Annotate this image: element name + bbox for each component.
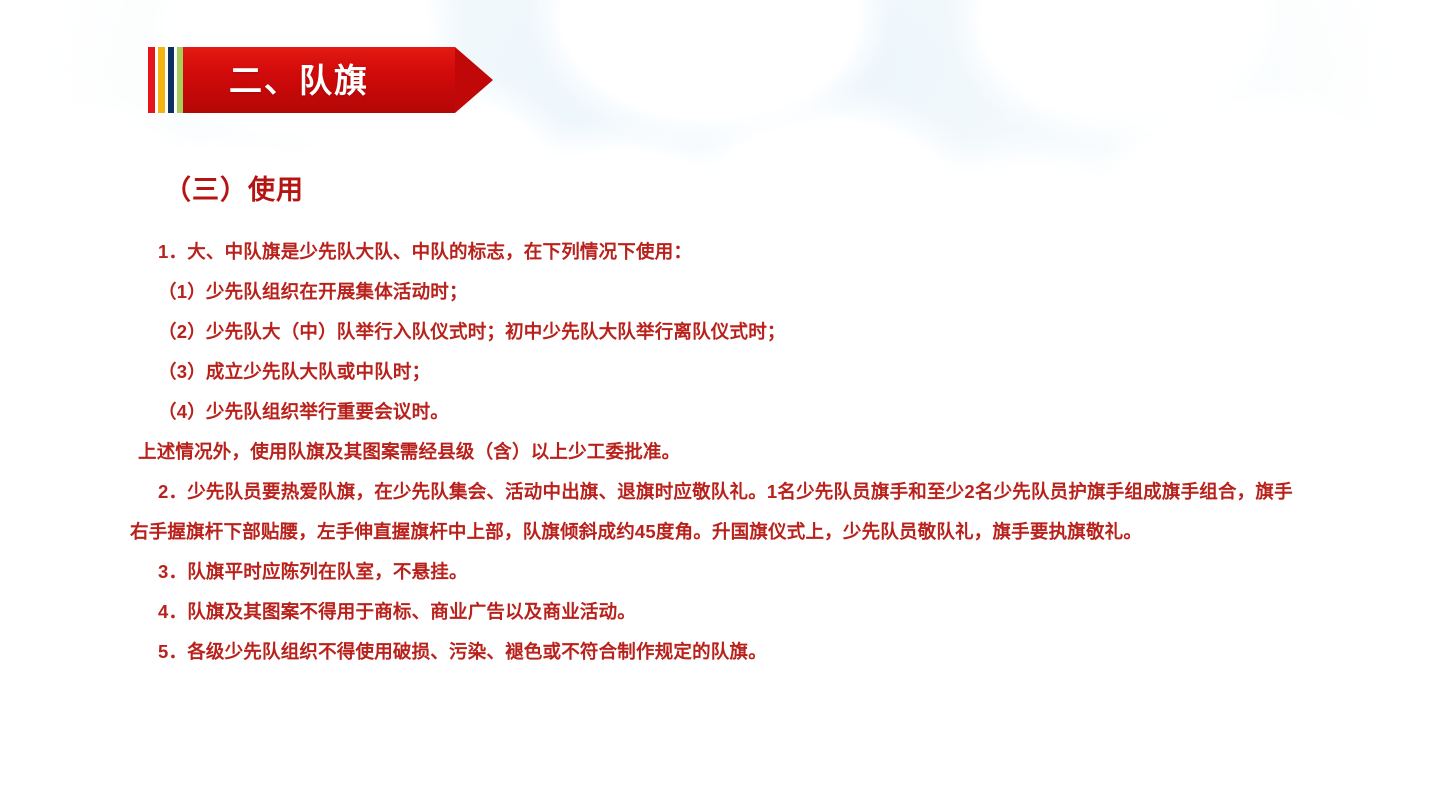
list-subitem-1: （1）少先队组织在开展集体活动时； [130,272,1310,312]
cloud-shape [560,0,860,120]
body-text-block: 1．大、中队旗是少先队大队、中队的标志，在下列情况下使用： （1）少先队组织在开… [130,232,1310,672]
section-heading: （三）使用 [164,168,304,207]
banner-title: 二、队旗 [229,64,369,97]
list-item-3: 3．队旗平时应陈列在队室，不悬挂。 [130,552,1310,592]
list-item-4: 4．队旗及其图案不得用于商标、商业广告以及商业活动。 [130,592,1310,632]
list-item-2: 2．少先队员要热爱队旗，在少先队集会、活动中出旗、退旗时应敬队礼。1名少先队员旗… [130,472,1295,552]
list-subitem-2: （2）少先队大（中）队举行入队仪式时；初中少先队大队举行离队仪式时； [130,312,1310,352]
list-subitem-3: （3）成立少先队大队或中队时； [130,352,1310,392]
stripe-red-icon [148,47,155,113]
note-line: 上述情况外，使用队旗及其图案需经县级（含）以上少工委批准。 [130,432,1310,472]
section-banner: 二、队旗 [148,47,493,113]
banner-body: 二、队旗 [183,47,455,113]
cloud-shape [980,0,1260,120]
list-subitem-4: （4）少先队组织举行重要会议时。 [130,392,1310,432]
list-item-1: 1．大、中队旗是少先队大队、中队的标志，在下列情况下使用： [130,232,1310,272]
slide-canvas: 二、队旗 （三）使用 1．大、中队旗是少先队大队、中队的标志，在下列情况下使用：… [0,0,1440,810]
list-item-5: 5．各级少先队组织不得使用破损、污染、褪色或不符合制作规定的队旗。 [130,632,1310,672]
stripe-gold-icon [158,47,165,113]
banner-arrow-icon [455,47,493,113]
